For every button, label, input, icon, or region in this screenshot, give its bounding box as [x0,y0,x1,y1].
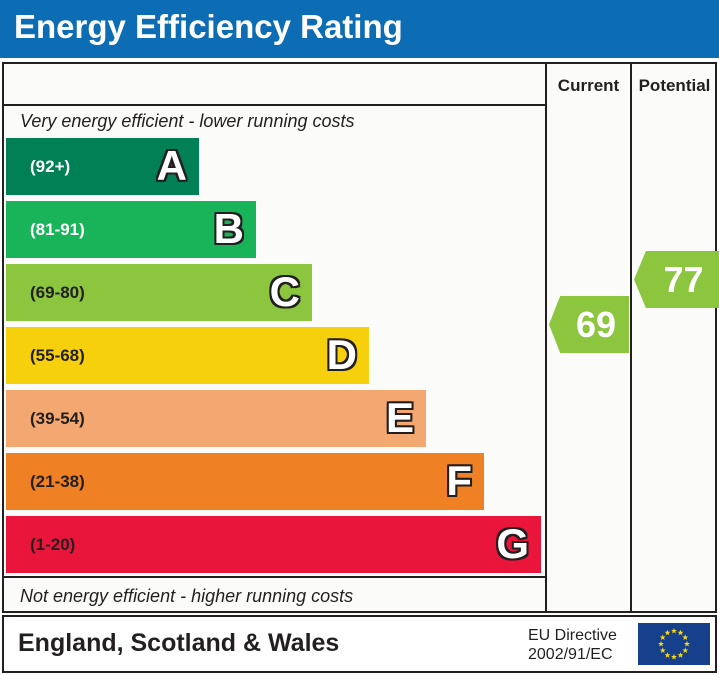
band-a: (92+)A [6,138,199,195]
footer-directive-label: EU Directive 2002/91/EC [528,626,617,664]
band-letter-label: A [157,145,187,187]
eu-flag-icon [638,623,710,665]
band-letter-label: F [446,460,472,502]
band-letter-label: B [214,208,244,250]
band-range-label: (81-91) [30,220,85,240]
band-range-label: (21-38) [30,472,85,492]
band-f: (21-38)F [6,453,484,510]
directive-line-2: 2002/91/EC [528,645,617,664]
page-title: Energy Efficiency Rating [14,8,403,46]
header-row-divider [4,104,545,106]
band-range-label: (39-54) [30,409,85,429]
footer-region-label: England, Scotland & Wales [18,629,339,658]
band-d: (55-68)D [6,327,369,384]
band-range-label: (92+) [30,157,70,177]
footer-frame: England, Scotland & Wales EU Directive 2… [2,615,717,673]
band-range-label: (1-20) [30,535,75,555]
footer-row-divider [4,576,545,578]
note-very-efficient: Very energy efficient - lower running co… [20,111,355,132]
band-range-label: (55-68) [30,346,85,366]
current-column-divider [545,64,547,611]
potential-column-divider [630,64,632,611]
current-rating-arrow-value: 69 [562,307,616,343]
band-letter-label: D [327,334,357,376]
potential-rating-arrow-value: 77 [649,262,703,298]
band-letter-label: E [386,397,414,439]
current-rating-arrow: 69 [549,296,629,353]
note-not-efficient: Not energy efficient - higher running co… [20,586,353,607]
band-e: (39-54)E [6,390,426,447]
column-header-current: Current [547,74,630,98]
band-range-label: (69-80) [30,283,85,303]
title-bar: Energy Efficiency Rating [0,0,719,58]
band-g: (1-20)G [6,516,541,573]
band-letter-label: C [270,271,300,313]
band-b: (81-91)B [6,201,256,258]
column-header-potential: Potential [632,74,717,98]
band-c: (69-80)C [6,264,312,321]
energy-efficiency-rating-chart: Energy Efficiency Rating Current Potenti… [0,0,719,675]
chart-frame: Current Potential Very energy efficient … [2,62,717,613]
directive-line-1: EU Directive [528,626,617,645]
band-letter-label: G [496,523,529,565]
potential-rating-arrow: 77 [634,251,719,308]
